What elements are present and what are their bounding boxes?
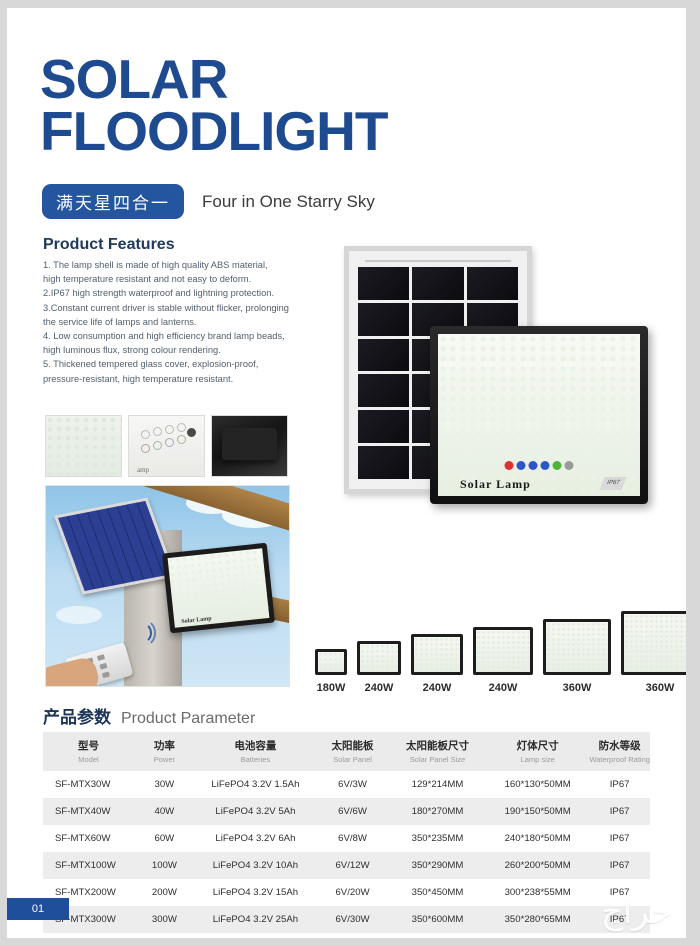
feature-line: pressure-resistant, high temperature res… xyxy=(43,372,313,386)
cell-lamp-size: 350*280*65MM xyxy=(486,906,589,933)
feature-line: 1. The lamp shell is made of high qualit… xyxy=(43,258,313,272)
cell-battery: LiFePO4 3.2V 25Ah xyxy=(195,906,316,933)
cell-power: 40W xyxy=(134,798,195,825)
lineup-label: 240W xyxy=(365,682,394,694)
cell-battery: LiFePO4 3.2V 5Ah xyxy=(195,798,316,825)
cell-model: SF-MTX30W xyxy=(43,771,134,798)
cell-solar-panel: 6V/3W xyxy=(316,771,389,798)
title-line-2: FLOODLIGHT xyxy=(40,105,387,157)
installation-photo: Solar Lamp xyxy=(45,485,290,687)
lineup-label: 240W xyxy=(489,682,518,694)
indicator-leds xyxy=(505,461,574,470)
ip67-badge: IP67 xyxy=(600,477,627,490)
table-row: SF-MTX30W 30W LiFePO4 3.2V 1.5Ah 6V/3W 1… xyxy=(43,771,650,798)
cell-lamp-size: 300*238*55MM xyxy=(486,879,589,906)
installed-floodlight: Solar Lamp xyxy=(162,543,275,634)
thumbnail-lamp-housing xyxy=(211,415,288,477)
table-row: SF-MTX100W 100W LiFePO4 3.2V 10Ah 6V/12W… xyxy=(43,852,650,879)
led-lens-face: Solar Lamp IP67 xyxy=(438,334,640,496)
table-header-row: 型号 Model 功率 Power 电池容量 Batteries 太阳能板 So… xyxy=(43,732,650,771)
cell-panel-size: 350*235MM xyxy=(389,825,486,852)
parameters-heading-cn: 产品参数 xyxy=(43,703,111,728)
cell-model: SF-MTX60W xyxy=(43,825,134,852)
cell-solar-panel: 6V/6W xyxy=(316,798,389,825)
brochure-page: SOLAR FLOODLIGHT 满天星四合一 Four in One Star… xyxy=(7,8,686,938)
thumbnail-lens-array xyxy=(45,415,122,477)
subtitle-row: 满天星四合一 Four in One Starry Sky xyxy=(42,184,375,219)
lineup-item: 360W xyxy=(543,619,611,694)
cell-waterproof: IP67 xyxy=(589,825,650,852)
cell-lamp-size: 160*130*50MM xyxy=(486,771,589,798)
cell-panel-size: 180*270MM xyxy=(389,798,486,825)
specification-table: 型号 Model 功率 Power 电池容量 Batteries 太阳能板 So… xyxy=(43,732,650,933)
cell-battery: LiFePO4 3.2V 10Ah xyxy=(195,852,316,879)
features-list: 1. The lamp shell is made of high qualit… xyxy=(43,258,313,386)
cell-waterproof: IP67 xyxy=(589,771,650,798)
cell-model: SF-MTX40W xyxy=(43,798,134,825)
column-header-model: 型号 Model xyxy=(43,732,134,771)
hero-product-photo: Solar Lamp IP67 xyxy=(332,246,648,511)
floodlight-unit: Solar Lamp IP67 xyxy=(430,326,648,504)
lineup-label: 180W xyxy=(317,682,346,694)
chinese-tagline-badge: 满天星四合一 xyxy=(42,184,184,219)
feature-line: the service life of lamps and lanterns. xyxy=(43,315,313,329)
thumbnail-indicator-leds: amp xyxy=(128,415,205,477)
cell-battery: LiFePO4 3.2V 1.5Ah xyxy=(195,771,316,798)
cell-power: 30W xyxy=(134,771,195,798)
cell-model: SF-MTX100W xyxy=(43,852,134,879)
column-header-power: 功率 Power xyxy=(134,732,195,771)
cell-solar-panel: 6V/30W xyxy=(316,906,389,933)
cell-lamp-size: 190*150*50MM xyxy=(486,798,589,825)
column-header-solar-panel-size: 太阳能板尺寸 Solar Panel Size xyxy=(389,732,486,771)
solar-lamp-label: Solar Lamp xyxy=(460,477,531,492)
feature-line: high luminous flux, strong colour render… xyxy=(43,343,313,357)
feature-line: 4. Low consumption and high efficiency b… xyxy=(43,329,313,343)
lineup-label: 240W xyxy=(423,682,452,694)
column-header-solar-panel: 太阳能板 Solar Panel xyxy=(316,732,389,771)
table-row: SF-MTX60W 60W LiFePO4 3.2V 6Ah 6V/8W 350… xyxy=(43,825,650,852)
lineup-item: 240W xyxy=(357,641,401,694)
cell-battery: LiFePO4 3.2V 6Ah xyxy=(195,825,316,852)
detail-thumbnails: amp xyxy=(45,415,288,477)
cell-lamp-size: 240*180*50MM xyxy=(486,825,589,852)
table-row: SF-MTX200W 200W LiFePO4 3.2V 15Ah 6V/20W… xyxy=(43,879,650,906)
title-line-1: SOLAR xyxy=(40,53,387,105)
lineup-item: 360W xyxy=(621,611,686,694)
lineup-item: 180W xyxy=(315,649,347,694)
column-header-waterproof-rating: 防水等级 Waterproof Rating xyxy=(589,732,650,771)
cell-power: 60W xyxy=(134,825,195,852)
cell-solar-panel: 6V/8W xyxy=(316,825,389,852)
cell-power: 300W xyxy=(134,906,195,933)
cell-power: 200W xyxy=(134,879,195,906)
thumbnail-lamp-text: amp xyxy=(137,466,149,474)
table-row: SF-MTX40W 40W LiFePO4 3.2V 5Ah 6V/6W 180… xyxy=(43,798,650,825)
size-lineup: 180W 240W 240W 240W 360W 360W xyxy=(315,616,655,694)
feature-line: 3.Constant current driver is stable with… xyxy=(43,301,313,315)
cell-power: 100W xyxy=(134,852,195,879)
cell-panel-size: 350*290MM xyxy=(389,852,486,879)
cell-solar-panel: 6V/20W xyxy=(316,879,389,906)
cell-panel-size: 350*450MM xyxy=(389,879,486,906)
column-header-batteries: 电池容量 Batteries xyxy=(195,732,316,771)
lineup-label: 360W xyxy=(563,682,592,694)
cell-solar-panel: 6V/12W xyxy=(316,852,389,879)
page-title: SOLAR FLOODLIGHT xyxy=(40,53,387,157)
parameters-heading-en: Product Parameter xyxy=(121,710,255,728)
parameters-heading: 产品参数 Product Parameter xyxy=(43,703,255,728)
cell-battery: LiFePO4 3.2V 15Ah xyxy=(195,879,316,906)
watermark: حراج xyxy=(601,892,672,932)
cell-lamp-size: 260*200*50MM xyxy=(486,852,589,879)
feature-line: 2.IP67 high strength waterproof and ligh… xyxy=(43,286,313,300)
lineup-item: 240W xyxy=(473,627,533,694)
lineup-label: 360W xyxy=(646,682,675,694)
cell-panel-size: 129*214MM xyxy=(389,771,486,798)
english-tagline: Four in One Starry Sky xyxy=(202,192,375,212)
lineup-item: 240W xyxy=(411,634,463,694)
feature-line: high temperature resistant and not easy … xyxy=(43,272,313,286)
cell-waterproof: IP67 xyxy=(589,852,650,879)
feature-line: 5. Thickened tempered glass cover, explo… xyxy=(43,357,313,371)
column-header-lamp-size: 灯体尺寸 Lamp size xyxy=(486,732,589,771)
table-row: SF-MTX300W 300W LiFePO4 3.2V 25Ah 6V/30W… xyxy=(43,906,650,933)
page-number: 01 xyxy=(7,898,69,920)
features-heading: Product Features xyxy=(43,236,175,254)
cell-waterproof: IP67 xyxy=(589,798,650,825)
cell-panel-size: 350*600MM xyxy=(389,906,486,933)
